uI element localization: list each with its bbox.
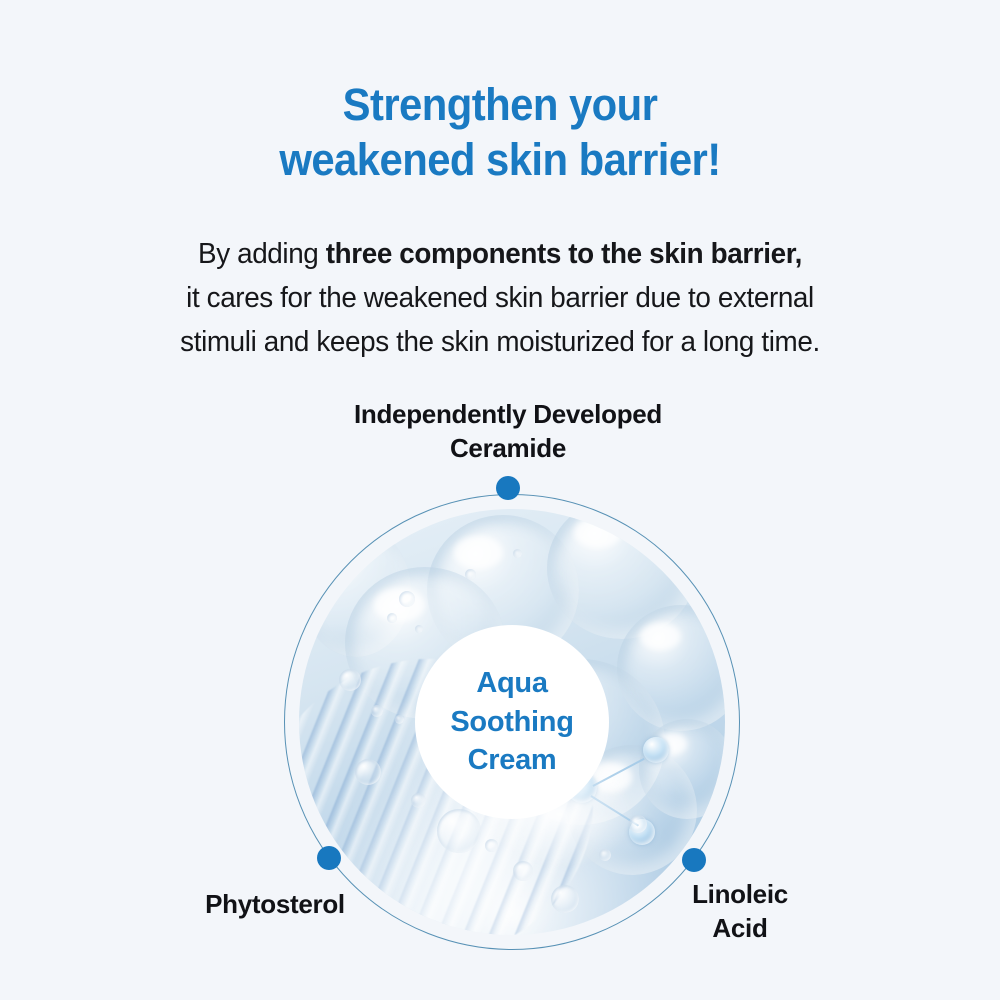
gel-droplet (415, 625, 423, 633)
product-name-line-1: Aqua (476, 664, 547, 703)
gel-droplet (395, 715, 404, 724)
gel-droplet (465, 569, 476, 580)
molecule-node (643, 737, 669, 763)
gel-droplet (551, 885, 579, 913)
node-label-ceramide-line-2: Ceramide (300, 432, 716, 466)
gel-droplet (339, 669, 361, 691)
product-name-line-2: Soothing (450, 703, 573, 742)
gel-droplet (399, 591, 415, 607)
node-label-phytosterol-line-1: Phytosterol (150, 888, 400, 922)
node-label-linoleic: Linoleic Acid (625, 878, 855, 946)
gel-droplet (355, 759, 381, 785)
gel-droplet (371, 705, 383, 717)
ingredient-diagram: Aqua Soothing Cream Independently Develo… (0, 0, 1000, 1000)
node-label-ceramide: Independently Developed Ceramide (300, 398, 716, 466)
gel-droplet (387, 613, 397, 623)
node-label-linoleic-line-1: Linoleic (625, 878, 855, 912)
node-label-ceramide-line-1: Independently Developed (300, 398, 716, 432)
gel-droplet (513, 549, 522, 558)
node-dot-ceramide (496, 476, 520, 500)
product-name-badge: Aqua Soothing Cream (415, 625, 609, 819)
product-name-line-3: Cream (468, 741, 557, 780)
node-dot-linoleic (682, 848, 706, 872)
node-dot-phytosterol (317, 846, 341, 870)
gel-droplet (411, 793, 426, 808)
gel-droplet (437, 809, 481, 853)
node-label-linoleic-line-2: Acid (625, 912, 855, 946)
node-label-phytosterol: Phytosterol (150, 888, 400, 922)
